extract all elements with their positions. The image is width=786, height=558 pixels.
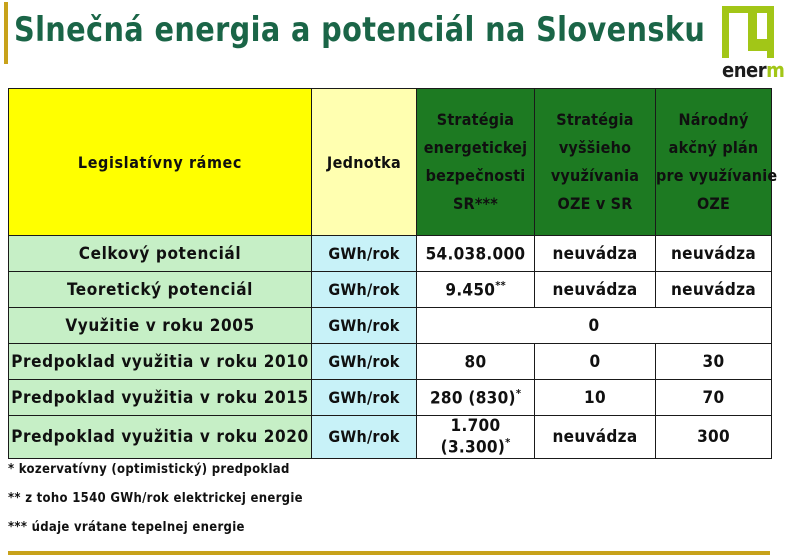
cell-merged-value: 0 (417, 308, 772, 344)
page-title: Slnečná energia a potenciál na Slovensku (14, 8, 634, 52)
column-header-energy-security-strategy: Stratégia energetickej bezpečnosti SR*** (417, 89, 535, 236)
solar-potential-table: Legislatívny rámec Jednotka Stratégia en… (8, 88, 772, 459)
header-line: pre využívanie (656, 162, 771, 190)
header-line: akčný plán (656, 134, 771, 162)
cell-national-action-plan: neuvádza (656, 272, 772, 308)
header-line: Stratégia (535, 106, 655, 134)
column-header-legislative-framework: Legislatívny rámec (9, 89, 312, 236)
footnote-item: * kozervatívny (optimistický) predpoklad (8, 455, 708, 484)
row-label: Celkový potenciál (9, 236, 312, 272)
cell-higher-rse-use: 10 (535, 380, 656, 416)
header-line: využívania (535, 162, 655, 190)
table-row: Využitie v roku 2005 GWh/rok 0 (9, 308, 772, 344)
cell-footnote-marker: ** (495, 279, 505, 292)
slide-canvas: Slnečná energia a potenciál na Slovensku… (0, 0, 786, 558)
header-line: bezpečnosti (417, 162, 534, 190)
table-row: Predpoklad využitia v roku 2015 GWh/rok … (9, 380, 772, 416)
logo-cut-notch (748, 39, 767, 51)
table-row: Predpoklad využitia v roku 2010 GWh/rok … (9, 344, 772, 380)
table-row: Predpoklad využitia v roku 2020 GWh/rok … (9, 416, 772, 459)
row-label: Predpoklad využitia v roku 2015 (9, 380, 312, 416)
cell-energy-security: 280 (830)* (417, 380, 535, 416)
header-line: Národný (656, 106, 771, 134)
table-header-row: Legislatívny rámec Jednotka Stratégia en… (9, 89, 772, 236)
ener-logo-mark-icon (722, 6, 774, 58)
cell-national-action-plan: 70 (656, 380, 772, 416)
footnote-item: ** z toho 1540 GWh/rok elektrickej energ… (8, 484, 708, 513)
row-unit: GWh/rok (312, 380, 417, 416)
row-label: Teoretický potenciál (9, 272, 312, 308)
title-accent-bar (4, 2, 8, 64)
column-header-higher-rse-use-strategy: Stratégia vyššieho využívania OZE v SR (535, 89, 656, 236)
logo-wordmark-main: ener (722, 58, 766, 82)
row-label: Predpoklad využitia v roku 2010 (9, 344, 312, 380)
column-header-unit: Jednotka (312, 89, 417, 236)
cell-value-text: 9.450 (445, 280, 495, 300)
cell-energy-security: 9.450** (417, 272, 535, 308)
header-line: energetickej (417, 134, 534, 162)
cell-value-text: 1.700 (3.300) (441, 416, 505, 458)
row-unit: GWh/rok (312, 272, 417, 308)
cell-footnote-marker: * (505, 436, 510, 449)
cell-energy-security: 80 (417, 344, 535, 380)
logo-cut-right (757, 13, 767, 39)
table-row: Teoretický potenciál GWh/rok 9.450** neu… (9, 272, 772, 308)
cell-higher-rse-use: neuvádza (535, 416, 656, 459)
cell-value-text: 54.038.000 (426, 244, 526, 264)
footnotes-block: * kozervatívny (optimistický) predpoklad… (8, 455, 708, 542)
header-line: SR*** (417, 190, 534, 218)
cell-value-text: 280 (830) (430, 388, 516, 408)
header-line: OZE (656, 190, 771, 218)
logo-wordmark-accent: m (766, 58, 784, 82)
row-unit: GWh/rok (312, 344, 417, 380)
cell-energy-security: 54.038.000 (417, 236, 535, 272)
cell-national-action-plan: 30 (656, 344, 772, 380)
cell-higher-rse-use: neuvádza (535, 236, 656, 272)
header-line: vyššieho (535, 134, 655, 162)
column-header-national-action-plan: Národný akčný plán pre využívanie OZE (656, 89, 772, 236)
ener-logo: enerm (722, 6, 778, 80)
cell-national-action-plan: neuvádza (656, 236, 772, 272)
cell-footnote-marker: * (516, 387, 521, 400)
logo-cut-bottom (729, 51, 767, 58)
row-label: Predpoklad využitia v roku 2020 (9, 416, 312, 459)
header-line: Stratégia (417, 106, 534, 134)
ener-logo-wordmark: enerm (722, 60, 778, 80)
table-body: Celkový potenciál GWh/rok 54.038.000 neu… (9, 236, 772, 459)
footnote-item: *** údaje vrátane tepelnej energie (8, 513, 708, 542)
cell-energy-security: 1.700 (3.300)* (417, 416, 535, 459)
row-unit: GWh/rok (312, 416, 417, 459)
row-label: Využitie v roku 2005 (9, 308, 312, 344)
bottom-accent-bar (8, 551, 770, 555)
cell-value-text: 80 (465, 352, 487, 372)
cell-higher-rse-use: neuvádza (535, 272, 656, 308)
cell-national-action-plan: 300 (656, 416, 772, 459)
cell-higher-rse-use: 0 (535, 344, 656, 380)
logo-cut-inner (729, 13, 748, 51)
table-row: Celkový potenciál GWh/rok 54.038.000 neu… (9, 236, 772, 272)
row-unit: GWh/rok (312, 308, 417, 344)
header-line: OZE v SR (535, 190, 655, 218)
row-unit: GWh/rok (312, 236, 417, 272)
